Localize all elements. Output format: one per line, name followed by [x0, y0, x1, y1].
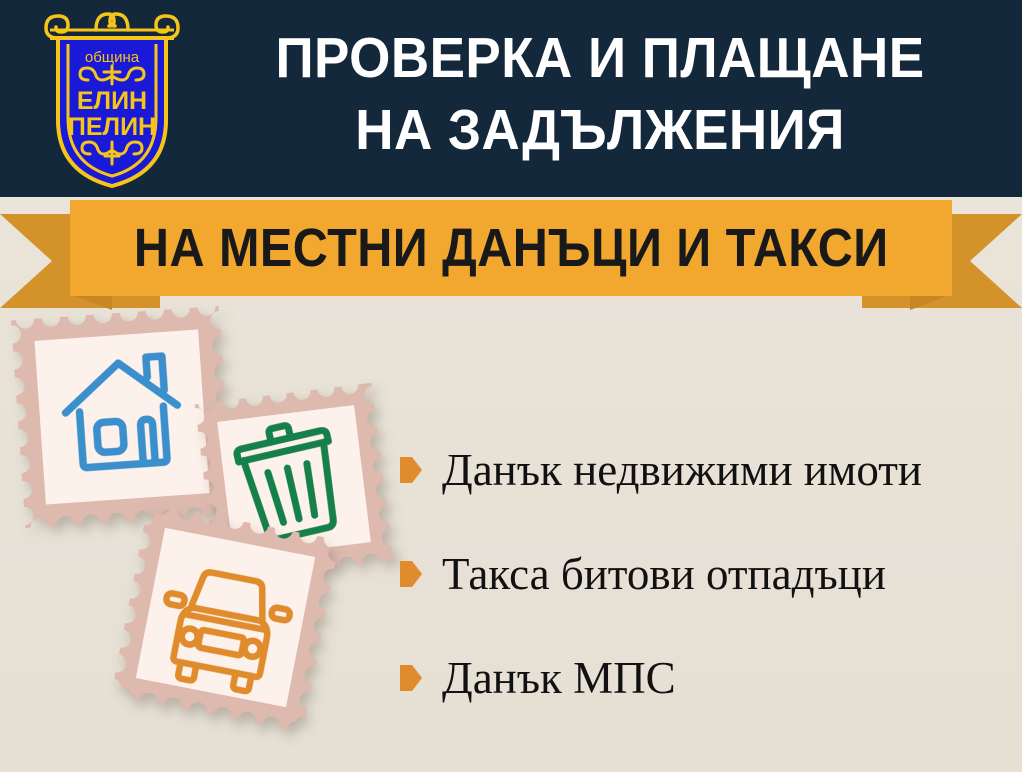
stamp-group [0, 295, 430, 772]
page-title: ПРОВЕРКА И ПЛАЩАНЕ НА ЗАДЪЛЖЕНИЯ [190, 22, 1010, 166]
ribbon-banner: НА МЕСТНИ ДАНЪЦИ И ТАКСИ [0, 198, 1022, 310]
list-item[interactable]: Данък недвижими имоти [400, 418, 1020, 522]
tax-type-list: Данък недвижими имоти Такса битови отпад… [400, 418, 1020, 730]
poster-root: община ЕЛИН ПЕЛИН [0, 0, 1022, 772]
list-item[interactable]: Данък МПС [400, 626, 1020, 730]
arrow-bullet-icon [400, 457, 422, 483]
ribbon-main-panel: НА МЕСТНИ ДАНЪЦИ И ТАКСИ [70, 200, 952, 296]
stamp-vehicle-tax [111, 503, 340, 732]
list-item[interactable]: Такса битови отпадъци [400, 522, 1020, 626]
logo-label-line-2: ПЕЛИН [68, 113, 156, 141]
page-title-line-2: НА ЗАДЪЛЖЕНИЯ [219, 94, 982, 166]
list-item-label: Данък недвижими имоти [442, 445, 922, 495]
arrow-bullet-icon [400, 561, 422, 587]
list-item-label: Данък МПС [442, 653, 676, 703]
list-item-label: Такса битови отпадъци [442, 549, 886, 599]
logo-label-top: община [85, 49, 140, 66]
header-bar: община ЕЛИН ПЕЛИН [0, 0, 1022, 197]
logo-label-line-1: ЕЛИН [77, 87, 147, 115]
header-inner: община ЕЛИН ПЕЛИН [0, 0, 1022, 197]
municipality-logo: община ЕЛИН ПЕЛИН [38, 8, 186, 190]
arrow-bullet-icon [400, 665, 422, 691]
ribbon-text: НА МЕСТНИ ДАНЪЦИ И ТАКСИ [134, 221, 889, 275]
page-title-line-1: ПРОВЕРКА И ПЛАЩАНЕ [219, 22, 982, 94]
